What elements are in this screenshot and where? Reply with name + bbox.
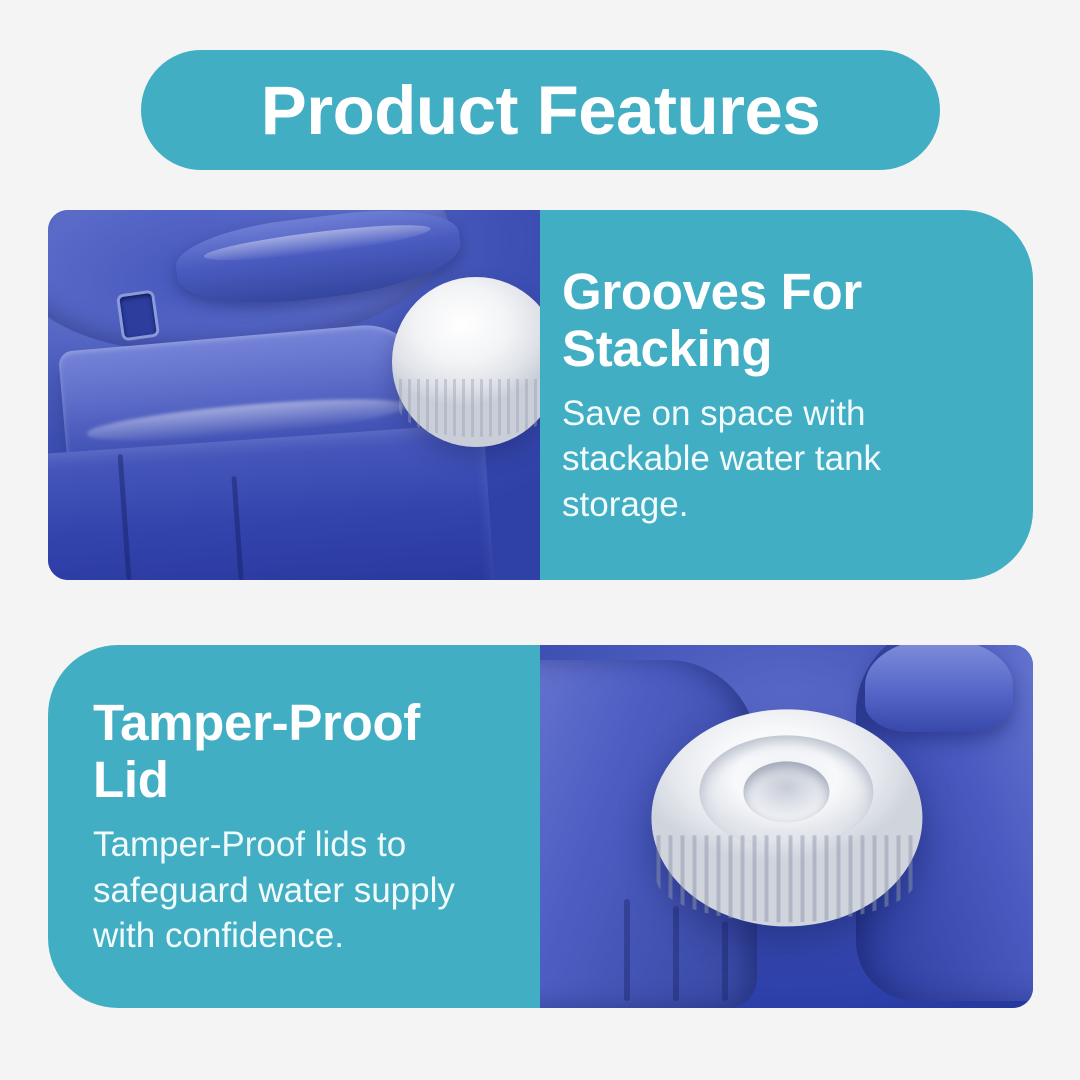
product-features-page: Product Features Grooves For Stacking Sa… [0,0,1080,1080]
page-title: Product Features [261,76,820,145]
tank-rib-line-1 [624,899,630,1001]
tank-rib-line-2 [673,906,679,1000]
feature-heading: Tamper-Proof Lid [93,694,493,808]
tank-white-cap-shape [392,277,540,447]
feature-image-grooves-for-stacking [48,210,540,580]
page-title-pill: Product Features [141,50,940,170]
feature-heading: Grooves For Stacking [562,263,962,377]
feature-text-panel-tamper-proof-lid: Tamper-Proof Lid Tamper-Proof lids to sa… [48,645,540,1008]
cap-center-opening-shape [743,761,830,822]
cap-tamper-band-shape [656,835,916,922]
tank-rib-line-3 [722,921,728,1001]
feature-card-grooves-for-stacking: Grooves For Stacking Save on space with … [48,210,1033,580]
feature-image-tamper-proof-lid [540,645,1033,1008]
water-tank-top-photo [48,210,540,580]
feature-description: Tamper-Proof lids to safeguard water sup… [93,822,473,959]
feature-description: Save on space with stackable water tank … [562,391,942,528]
tank-vent-hole-shape [119,293,156,338]
tank-handle-loop-shape [865,645,1013,732]
feature-card-tamper-proof-lid: Tamper-Proof Lid Tamper-Proof lids to sa… [48,645,1033,1008]
feature-text-panel-grooves-for-stacking: Grooves For Stacking Save on space with … [540,210,1033,580]
tamper-proof-cap-photo [540,645,1033,1008]
white-screw-cap-shape [651,709,922,927]
